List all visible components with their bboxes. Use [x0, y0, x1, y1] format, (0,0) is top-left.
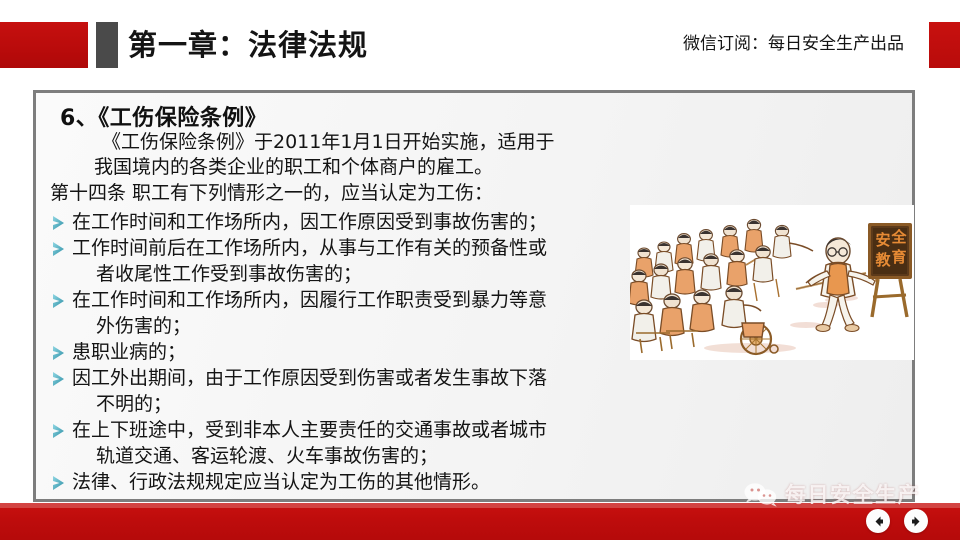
arrow-bullet-icon [51, 239, 67, 257]
list-item-text: 在上下班途中，受到非本人主要责任的交通事故或者城市 [72, 419, 547, 441]
list-item-line: 工作时间前后在工作场所内，从事与工作有关的预备性或 [50, 235, 640, 261]
list-item-text: 在工作时间和工作场所内，因履行工作职责受到暴力等意 [72, 289, 547, 311]
list-item-text: 工作时间前后在工作场所内，从事与工作有关的预备性或 [72, 237, 547, 259]
arrow-bullet-icon [51, 291, 67, 309]
content-inner: 6、《工伤保险条例》 《工伤保险条例》于2011年1月1日开始实施，适用于 我国… [36, 93, 912, 499]
list-item-line-cont: 者收尾性工作受到事故伤害的； [50, 261, 640, 287]
header-gray-block-decoration [96, 22, 118, 68]
blackboard-char-3: 教 [874, 251, 891, 269]
list-item: 在上下班途中，受到非本人主要责任的交通事故或者城市 轨道交通、客运轮渡、火车事故… [50, 417, 640, 469]
list-item: 在工作时间和工作场所内，因工作原因受到事故伤害的； [50, 209, 640, 235]
blackboard-char-1: 安 [875, 231, 890, 249]
intro-line-1: 《工伤保险条例》于2011年1月1日开始实施，适用于 [102, 130, 555, 155]
header-red-bar-decoration [0, 22, 88, 68]
list-item-line: 在工作时间和工作场所内，因履行工作职责受到暴力等意 [50, 287, 640, 313]
slide-navigation [866, 509, 942, 535]
arrow-bullet-icon [51, 369, 67, 387]
list-item-line: 患职业病的； [50, 339, 640, 365]
list-item: 工作时间前后在工作场所内，从事与工作有关的预备性或 者收尾性工作受到事故伤害的； [50, 235, 640, 287]
slide-header: 第一章：法律法规 微信订阅：每日安全生产出品 [0, 0, 960, 88]
list-item-text: 在工作时间和工作场所内，因工作原因受到事故伤害的； [72, 211, 547, 233]
arrow-bullet-icon [51, 343, 67, 361]
cartoon-svg: 安 全 教 育 [630, 205, 914, 360]
header-red-square-decoration [929, 22, 960, 68]
footer-bar [0, 503, 960, 540]
list-item-text: 因工外出期间，由于工作原因受到伤害或者发生事故下落 [72, 367, 547, 389]
slide-root: 第一章：法律法规 微信订阅：每日安全生产出品 6、《工伤保险条例》 《工伤保险条… [0, 0, 960, 540]
section-title: 6、《工伤保险条例》 [60, 100, 267, 132]
chapter-title: 第一章：法律法规 [128, 21, 368, 69]
list-item-text: 法律、行政法规规定应当认定为工伤的其他情形。 [72, 471, 490, 493]
intro-line-2: 我国境内的各类企业的职工和个体商户的雇工。 [94, 155, 493, 180]
arrow-bullet-icon [51, 473, 67, 491]
list-item-line: 在工作时间和工作场所内，因工作原因受到事故伤害的； [50, 209, 640, 235]
list-item-text: 患职业病的； [72, 341, 186, 363]
list-item-line-cont: 外伤害的； [50, 313, 640, 339]
footer-bar-highlight [0, 503, 960, 508]
list-item-line: 在上下班途中，受到非本人主要责任的交通事故或者城市 [50, 417, 640, 443]
list-item-line-cont: 轨道交通、客运轮渡、火车事故伤害的； [50, 443, 640, 469]
arrow-bullet-icon [51, 421, 67, 439]
list-item: 法律、行政法规规定应当认定为工伤的其他情形。 [50, 469, 640, 495]
content-panel: 6、《工伤保险条例》 《工伤保险条例》于2011年1月1日开始实施，适用于 我国… [33, 90, 915, 502]
list-item: 在工作时间和工作场所内，因履行工作职责受到暴力等意 外伤害的； [50, 287, 640, 339]
list-item: 因工外出期间，由于工作原因受到伤害或者发生事故下落 不明的； [50, 365, 640, 417]
list-item-line: 因工外出期间，由于工作原因受到伤害或者发生事故下落 [50, 365, 640, 391]
blackboard-char-2: 全 [890, 228, 907, 246]
arrow-bullet-icon [51, 213, 67, 231]
subscription-note: 微信订阅：每日安全生产出品 [683, 28, 904, 60]
list-item-line: 法律、行政法规规定应当认定为工伤的其他情形。 [50, 469, 640, 495]
list-item-line-cont: 不明的； [50, 391, 640, 417]
arrow-right-icon [910, 515, 923, 528]
blackboard-char-4: 育 [891, 248, 906, 266]
intro-line-3: 第十四条 职工有下列情形之一的，应当认定为工伤： [50, 181, 493, 206]
previous-slide-button[interactable] [866, 509, 890, 533]
arrow-left-icon [872, 515, 885, 528]
safety-training-cartoon: 安 全 教 育 [630, 205, 914, 360]
next-slide-button[interactable] [904, 509, 928, 533]
clause-list: 在工作时间和工作场所内，因工作原因受到事故伤害的； 工作时间前后在工作场所内，从… [50, 209, 640, 495]
list-item: 患职业病的； [50, 339, 640, 365]
